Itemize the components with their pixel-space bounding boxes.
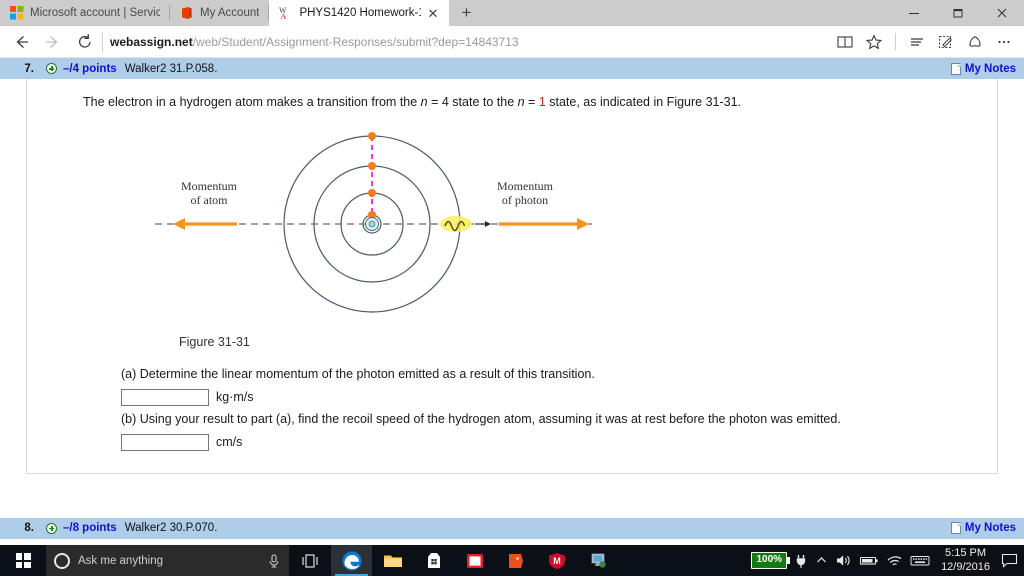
microphone-icon[interactable] [267,553,281,569]
part-a-unit: kg·m/s [216,390,254,404]
new-tab-button[interactable]: + [449,0,483,26]
taskbar-app-buttons: M [331,545,618,576]
cortana-icon [54,553,70,569]
question-8: 8. –/8 points Walker2 30.P.070. My Notes [0,518,1024,539]
minimize-button[interactable] [892,0,936,26]
momentum-of-atom-label-2: of atom [191,193,229,207]
address-bar[interactable]: webassign.net/web/Student/Assignment-Res… [110,27,829,57]
momentum-of-atom-label: Momentum [181,179,238,193]
browser-tab-title: PHYS1420 Homework-1 [299,7,420,19]
part-a-answer-row: kg·m/s [121,389,969,406]
question-number: 8. [8,522,34,534]
touch-keyboard-icon[interactable] [910,554,930,567]
taskbar-app-mcafee[interactable]: M [536,545,577,576]
momentum-of-atom-arrow [173,218,237,230]
browser-tab-title: Microsoft account | Service [30,7,160,19]
webassign-page: 7. –/4 points Walker2 31.P.058. My Notes… [0,58,1024,545]
forward-arrow-icon[interactable] [38,27,68,57]
browser-tab-microsoft-account[interactable]: Microsoft account | Service [0,0,170,26]
momentum-of-photon-arrow [499,218,589,230]
note-page-icon [951,63,961,75]
section-gap [0,474,1024,518]
webassign-icon: W A [279,6,293,20]
final-level-value: 1 [539,95,546,109]
toolbar-divider [895,33,896,50]
electron-dot-n3 [368,162,376,170]
clock-time: 5:15 PM [941,547,990,560]
figure-31-31: Momentum of atom Momentum of photon [27,127,997,327]
url-domain: webassign.net [110,35,193,49]
prompt-eq-1: = 4 state to the [428,95,518,109]
taskbar-app-reader[interactable] [454,545,495,576]
svg-text:A: A [281,12,287,20]
task-view-button[interactable] [289,545,331,576]
photon-wave [440,216,491,232]
figure-caption: Figure 31-31 [27,335,997,349]
my-notes-label: My Notes [965,522,1016,534]
part-b-answer-input[interactable] [121,434,209,451]
cortana-search-box[interactable]: Ask me anything [46,545,289,576]
nucleus-core [369,221,375,227]
clock-date: 12/9/2016 [941,561,990,574]
back-arrow-icon[interactable] [6,27,36,57]
my-notes-label: My Notes [965,63,1016,75]
windows-start-icon [16,553,31,568]
show-hidden-icons-icon[interactable] [815,554,828,567]
window-controls [892,0,1024,26]
start-button[interactable] [0,545,46,576]
question-7-body: The electron in a hydrogen atom makes a … [26,79,998,474]
question-prompt: The electron in a hydrogen atom makes a … [27,93,997,111]
question-7: 7. –/4 points Walker2 31.P.058. My Notes… [0,58,1024,474]
battery-percent-badge[interactable]: 100% [751,552,787,569]
browser-tab-title: My Account [200,7,259,19]
power-plug-icon[interactable] [794,553,808,569]
wifi-icon[interactable] [886,554,903,568]
microsoft-logo-icon [10,6,24,20]
reading-view-icon[interactable] [831,27,859,57]
question-7-header: 7. –/4 points Walker2 31.P.058. My Notes [0,58,1024,79]
browser-navigation-bar: webassign.net/web/Student/Assignment-Res… [0,26,1024,58]
browser-tab-my-account[interactable]: My Account [170,0,269,26]
my-notes-button[interactable]: My Notes [951,522,1016,534]
part-b-unit: cm/s [216,435,242,449]
variable-n-final: n [518,95,525,109]
battery-icon[interactable] [859,554,879,567]
question-number: 7. [8,63,34,75]
question-points: –/8 points [63,522,117,534]
screen: Microsoft account | Service My Account W… [0,0,1024,576]
close-button[interactable] [980,0,1024,26]
url-path: /web/Student/Assignment-Responses/submit… [193,35,519,49]
part-a-text: (a) Determine the linear momentum of the… [121,365,969,384]
maximize-button[interactable] [936,0,980,26]
search-input-placeholder: Ask me anything [78,555,259,567]
url-text: webassign.net/web/Student/Assignment-Res… [110,35,519,49]
taskbar-app-orange[interactable] [495,545,536,576]
share-icon[interactable] [961,27,989,57]
hub-icon[interactable] [903,27,931,57]
browser-toolbar-icons [831,27,1018,57]
close-icon[interactable]: ✕ [427,7,440,20]
electron-dot-n2 [368,189,376,197]
more-icon[interactable] [990,27,1018,57]
question-points: –/4 points [63,63,117,75]
taskbar-app-microsoft-store[interactable] [413,545,454,576]
system-tray: 100% [751,545,1024,576]
momentum-of-photon-label-2: of photon [502,193,548,207]
expand-plus-icon[interactable] [46,63,57,74]
prompt-eq-2: = [525,95,539,109]
note-page-icon [951,522,961,534]
taskbar-app-edge[interactable] [331,545,372,576]
web-note-icon[interactable] [932,27,960,57]
taskbar-clock[interactable]: 5:15 PM 12/9/2016 [937,547,994,574]
electron-dot-n4 [368,132,376,140]
prompt-text-1: The electron in a hydrogen atom makes a … [83,95,421,109]
volume-icon[interactable] [835,553,852,568]
part-a-answer-input[interactable] [121,389,209,406]
variable-n-initial: n [421,95,428,109]
expand-plus-icon[interactable] [46,523,57,534]
momentum-of-photon-label: Momentum [497,179,554,193]
question-reference: Walker2 31.P.058. [125,63,218,75]
my-notes-button[interactable]: My Notes [951,63,1016,75]
browser-tab-strip: Microsoft account | Service My Account W… [0,0,1024,26]
taskbar-app-file-explorer[interactable] [372,545,413,576]
question-8-header: 8. –/8 points Walker2 30.P.070. My Notes [0,518,1024,539]
browser-tab-phys1420-homework[interactable]: W A PHYS1420 Homework-1 ✕ [269,0,449,26]
refresh-arrow-icon[interactable] [70,27,100,57]
part-b-text: (b) Using your result to part (a), find … [121,410,969,429]
taskbar-app-control-panel[interactable] [577,545,618,576]
favorites-star-icon[interactable] [860,27,888,57]
office-icon [180,6,194,20]
windows-taskbar: Ask me anything [0,545,1024,576]
svg-text:M: M [553,556,561,566]
question-reference: Walker2 30.P.070. [125,522,218,534]
prompt-text-2: state, as indicated in Figure 31-31. [546,95,741,109]
question-parts: (a) Determine the linear momentum of the… [27,349,997,451]
part-b-answer-row: cm/s [121,434,969,451]
action-center-icon[interactable] [1001,553,1018,568]
